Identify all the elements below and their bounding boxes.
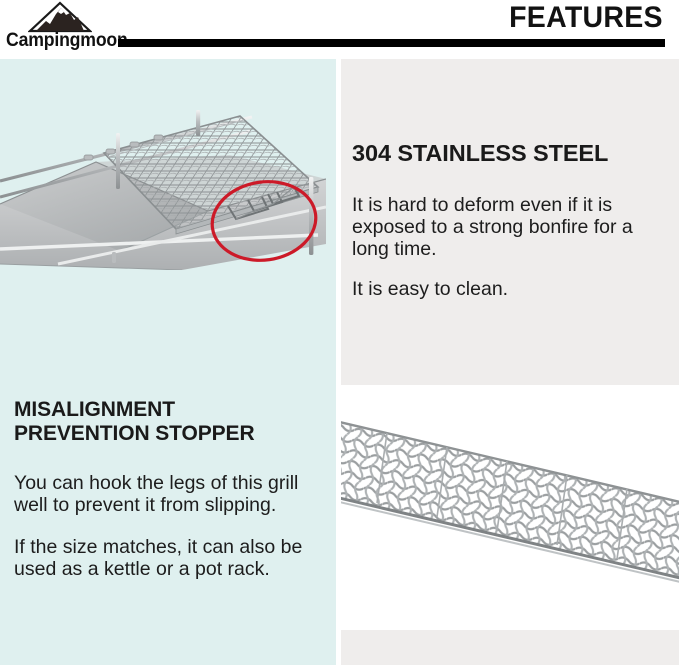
left-heading-line-2: PREVENTION STOPPER xyxy=(14,422,324,446)
left-feature-body: You can hook the legs of this grill well… xyxy=(14,472,330,580)
mesh-photo-svg xyxy=(341,385,679,630)
brand-wordmark: Campingmoon xyxy=(6,31,110,51)
wire-mesh-grate-closeup-photo xyxy=(341,385,679,630)
page-title: FEATURES xyxy=(509,1,663,35)
feature-panel-stopper: MISALIGNMENT PREVENTION STOPPER You can … xyxy=(0,59,336,665)
grill-grate-on-firepit-photo xyxy=(0,59,326,270)
grill-photo-svg xyxy=(0,59,326,270)
page-header: Campingmoon FEATURES xyxy=(0,0,679,59)
right-paragraph-2: It is easy to clean. xyxy=(352,278,670,300)
left-paragraph-1: You can hook the legs of this grill well… xyxy=(14,472,330,516)
right-paragraph-1: It is hard to deform even if it is expos… xyxy=(352,194,670,260)
left-paragraph-2: If the size matches, it can also be used… xyxy=(14,536,330,580)
right-panel-bottom-background xyxy=(341,630,679,665)
right-feature-body: It is hard to deform even if it is expos… xyxy=(352,194,670,300)
mountain-triangle-icon xyxy=(28,1,92,33)
mountain-triangle-icon-svg xyxy=(28,1,92,33)
left-feature-heading: MISALIGNMENT PREVENTION STOPPER xyxy=(14,398,324,446)
left-heading-line-1: MISALIGNMENT xyxy=(14,398,324,422)
feature-panel-material: 304 STAINLESS STEEL It is hard to deform… xyxy=(341,59,679,665)
right-feature-heading: 304 STAINLESS STEEL xyxy=(352,140,608,166)
header-rule xyxy=(118,39,665,47)
brand-logo: Campingmoon xyxy=(2,0,118,54)
